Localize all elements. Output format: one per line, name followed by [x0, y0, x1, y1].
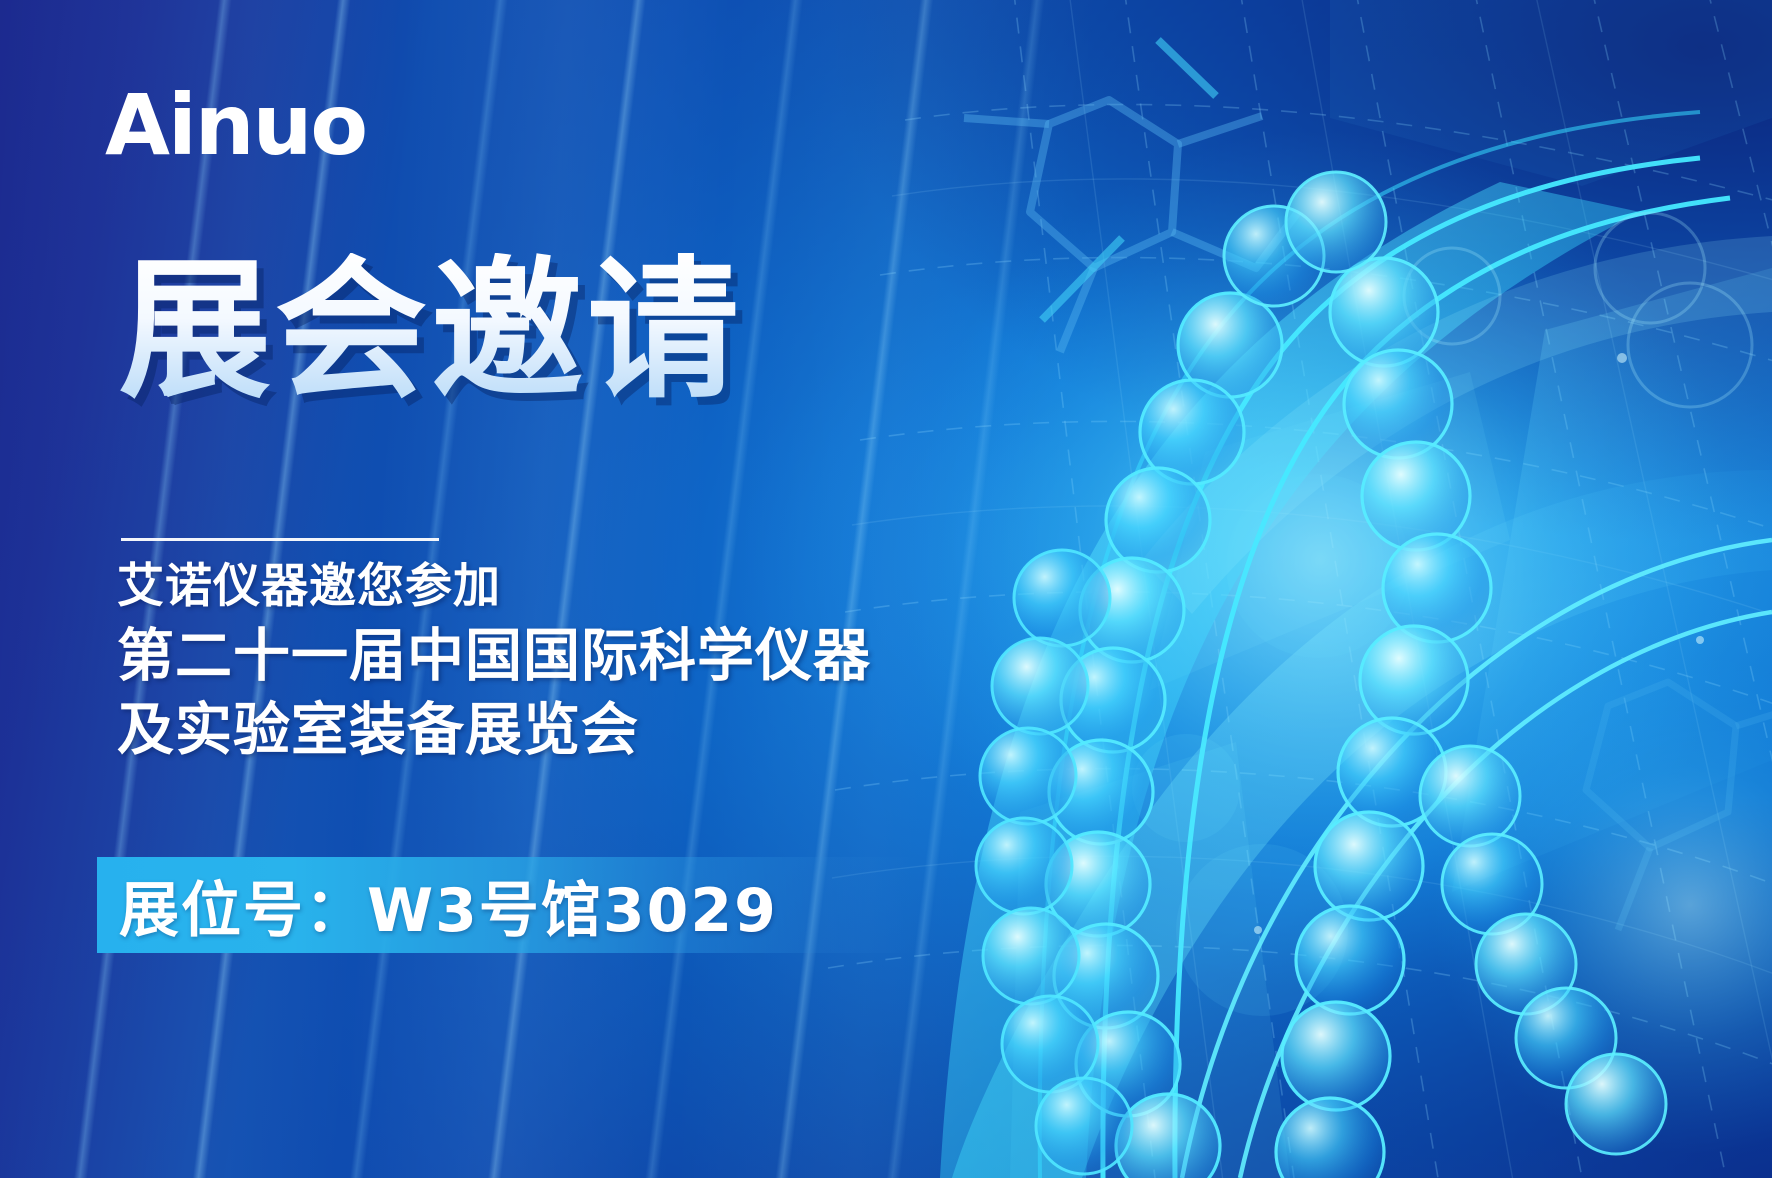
- exhibition-invitation-banner: Ainuo 展会邀请 艾诺仪器邀您参加 第二十一届中国国际科学仪器 及实验室装备…: [0, 0, 1772, 1178]
- content-block: Ainuo 展会邀请 艾诺仪器邀您参加 第二十一届中国国际科学仪器 及实验室装备…: [97, 0, 997, 1178]
- subtitle-block: 艾诺仪器邀您参加 第二十一届中国国际科学仪器 及实验室装备展览会: [117, 556, 871, 767]
- brand-logo: Ainuo: [105, 83, 366, 167]
- page-title: 展会邀请: [119, 253, 743, 408]
- subtitle-line-1: 艾诺仪器邀您参加: [117, 556, 871, 619]
- title-divider: [121, 538, 439, 541]
- booth-number-bar: 展位号：W3号馆3029: [97, 857, 917, 953]
- booth-number-label: 展位号：W3号馆3029: [97, 862, 778, 949]
- subtitle-line-2: 第二十一届中国国际科学仪器: [117, 619, 871, 693]
- subtitle-line-3: 及实验室装备展览会: [117, 693, 871, 767]
